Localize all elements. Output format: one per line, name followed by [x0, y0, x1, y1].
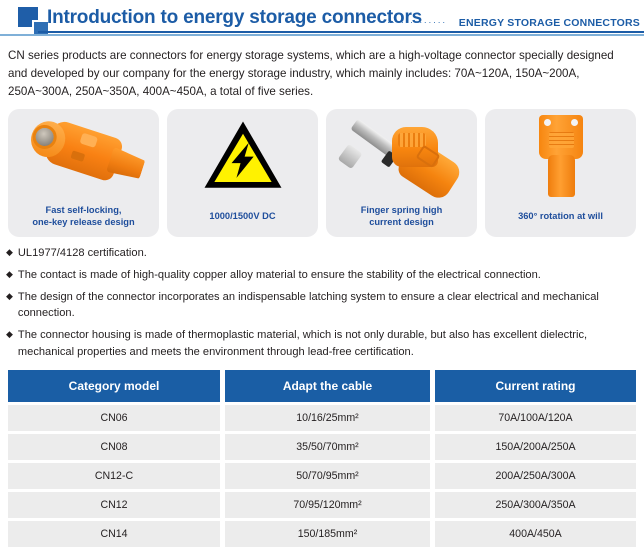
table-cell-cable: 150/185mm² [225, 521, 430, 547]
feature-card-rotation: 360° rotation at will [485, 109, 636, 237]
card-caption: Fast self-locking, one-key release desig… [12, 204, 155, 229]
orange-straight-connector-image [18, 110, 149, 200]
table-row: CN06 10/16/25mm² 70A/100A/120A [8, 405, 636, 431]
connector-mount-hole-right [571, 119, 578, 126]
feature-card-self-locking: Fast self-locking, one-key release desig… [8, 109, 159, 237]
table-cell-cable: 70/95/120mm² [225, 492, 430, 518]
table-cell-current: 70A/100A/120A [435, 405, 636, 431]
table-cell-cable: 50/70/95mm² [225, 463, 430, 489]
high-voltage-warning-triangle-icon [202, 119, 284, 191]
table-cell-model: CN12 [8, 492, 220, 518]
connector-grip-ribs [398, 133, 426, 147]
connector-pin-tip [338, 144, 363, 169]
specifications-table: Category model Adapt the cable Current r… [8, 370, 636, 547]
connector-shaft [548, 155, 575, 197]
card-art [8, 111, 159, 197]
table-row: CN14 150/185mm² 400A/450A [8, 521, 636, 547]
intro-paragraph: CN series products are connectors for en… [8, 47, 636, 101]
table-header-current-rating: Current rating [435, 370, 636, 402]
list-item: ◆ UL1977/4128 certification. [6, 245, 638, 262]
table-cell-model: CN08 [8, 434, 220, 460]
header-section-label: ENERGY STORAGE CONNECTORS [459, 17, 640, 29]
table-cell-model: CN14 [8, 521, 220, 547]
card-caption-line1: Finger spring high [330, 204, 473, 217]
card-caption: 360° rotation at will [489, 210, 632, 223]
diamond-bullet-icon: ◆ [6, 245, 13, 260]
table-cell-current: 250A/300A/350A [435, 492, 636, 518]
connector-grip-ribs [549, 132, 574, 148]
card-caption-line1: 1000/1500V DC [171, 210, 314, 223]
page-title: Introduction to energy storage connector… [47, 7, 422, 29]
table-header-row: Category model Adapt the cable Current r… [8, 370, 636, 402]
table-cell-current: 150A/200A/250A [435, 434, 636, 460]
card-art [485, 111, 636, 197]
feature-bullet-list: ◆ UL1977/4128 certification. ◆ The conta… [6, 245, 638, 361]
orange-vertical-connector-image [539, 115, 583, 197]
card-caption: 1000/1500V DC [171, 210, 314, 223]
table-row: CN08 35/50/70mm² 150A/200A/250A [8, 434, 636, 460]
list-item-text: The design of the connector incorporates… [18, 289, 638, 323]
card-art [326, 111, 477, 197]
card-caption-line1: 360° rotation at will [489, 210, 632, 223]
table-header-category-model: Category model [8, 370, 220, 402]
card-caption-line2: current design [330, 216, 473, 229]
table-row: CN12 70/95/120mm² 250A/300A/350A [8, 492, 636, 518]
list-item-text: UL1977/4128 certification. [18, 245, 638, 262]
diamond-bullet-icon: ◆ [6, 267, 13, 282]
dot-leader-icon: ·············· [382, 18, 446, 27]
list-item-text: The connector housing is made of thermop… [18, 327, 638, 361]
table-cell-cable: 35/50/70mm² [225, 434, 430, 460]
list-item: ◆ The design of the connector incorporat… [6, 289, 638, 323]
list-item: ◆ The connector housing is made of therm… [6, 327, 638, 361]
page-header: Introduction to energy storage connector… [0, 0, 644, 40]
diamond-bullet-icon: ◆ [6, 327, 13, 342]
diamond-bullet-icon: ◆ [6, 289, 13, 304]
feature-card-voltage: 1000/1500V DC [167, 109, 318, 237]
header-divider-dark [38, 31, 644, 33]
card-art [167, 111, 318, 197]
table-row: CN12-C 50/70/95mm² 200A/250A/300A [8, 463, 636, 489]
list-item-text: The contact is made of high-quality copp… [18, 267, 638, 284]
orange-angled-connector-image [340, 119, 466, 197]
feature-cards: Fast self-locking, one-key release desig… [8, 109, 636, 237]
card-caption: Finger spring high current design [330, 204, 473, 229]
table-cell-cable: 10/16/25mm² [225, 405, 430, 431]
header-divider [0, 31, 644, 36]
table-cell-current: 200A/250A/300A [435, 463, 636, 489]
feature-card-finger-spring: Finger spring high current design [326, 109, 477, 237]
connector-mount-hole-left [544, 119, 551, 126]
header-right-group: ·············· ENERGY STORAGE CONNECTORS [382, 17, 640, 29]
table-cell-model: CN06 [8, 405, 220, 431]
card-caption-line1: Fast self-locking, [12, 204, 155, 217]
table-cell-current: 400A/450A [435, 521, 636, 547]
card-caption-line2: one-key release design [12, 216, 155, 229]
table-header-adapt-the-cable: Adapt the cable [225, 370, 430, 402]
list-item: ◆ The contact is made of high-quality co… [6, 267, 638, 284]
header-divider-light [0, 34, 644, 36]
table-cell-model: CN12-C [8, 463, 220, 489]
